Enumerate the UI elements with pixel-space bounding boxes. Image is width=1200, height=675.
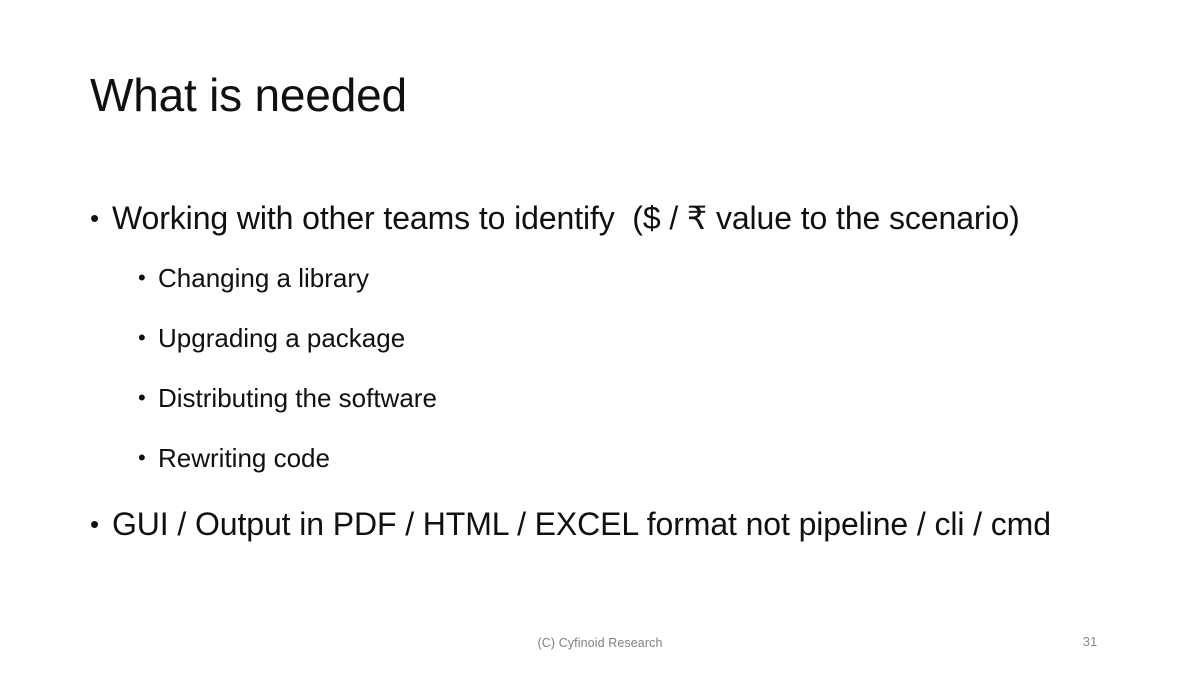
- slide-body-content: • Working with other teams to identify (…: [90, 196, 1120, 552]
- slide-title: What is needed: [90, 66, 1110, 124]
- bullet-text: Distributing the software: [158, 380, 1120, 416]
- bullet-text: GUI / Output in PDF / HTML / EXCEL forma…: [112, 502, 1120, 546]
- bullet-text: Upgrading a package: [158, 320, 1120, 356]
- bullet-point-icon: •: [138, 440, 158, 476]
- sub-bullet-group: • Changing a library • Upgrading a packa…: [90, 260, 1120, 476]
- bullet-item-level2: • Rewriting code: [90, 440, 1120, 476]
- page-number: 31: [1060, 634, 1120, 650]
- bullet-item-level1: • Working with other teams to identify (…: [90, 196, 1120, 240]
- bullet-item-level2: • Distributing the software: [90, 380, 1120, 416]
- bullet-item-level2: • Upgrading a package: [90, 320, 1120, 356]
- footer-credit: (C) Cyfinoid Research: [0, 635, 1200, 651]
- bullet-text: Changing a library: [158, 260, 1120, 296]
- bullet-text: Rewriting code: [158, 440, 1120, 476]
- bullet-point-icon: •: [138, 380, 158, 416]
- bullet-point-icon: •: [138, 260, 158, 296]
- bullet-item-level2: • Changing a library: [90, 260, 1120, 296]
- slide: What is needed • Working with other team…: [0, 0, 1200, 675]
- bullet-point-icon: •: [90, 502, 112, 546]
- bullet-point-icon: •: [138, 320, 158, 356]
- bullet-item-level1: • GUI / Output in PDF / HTML / EXCEL for…: [90, 502, 1120, 546]
- bullet-point-icon: •: [90, 196, 112, 240]
- bullet-text: Working with other teams to identify ($ …: [112, 196, 1120, 240]
